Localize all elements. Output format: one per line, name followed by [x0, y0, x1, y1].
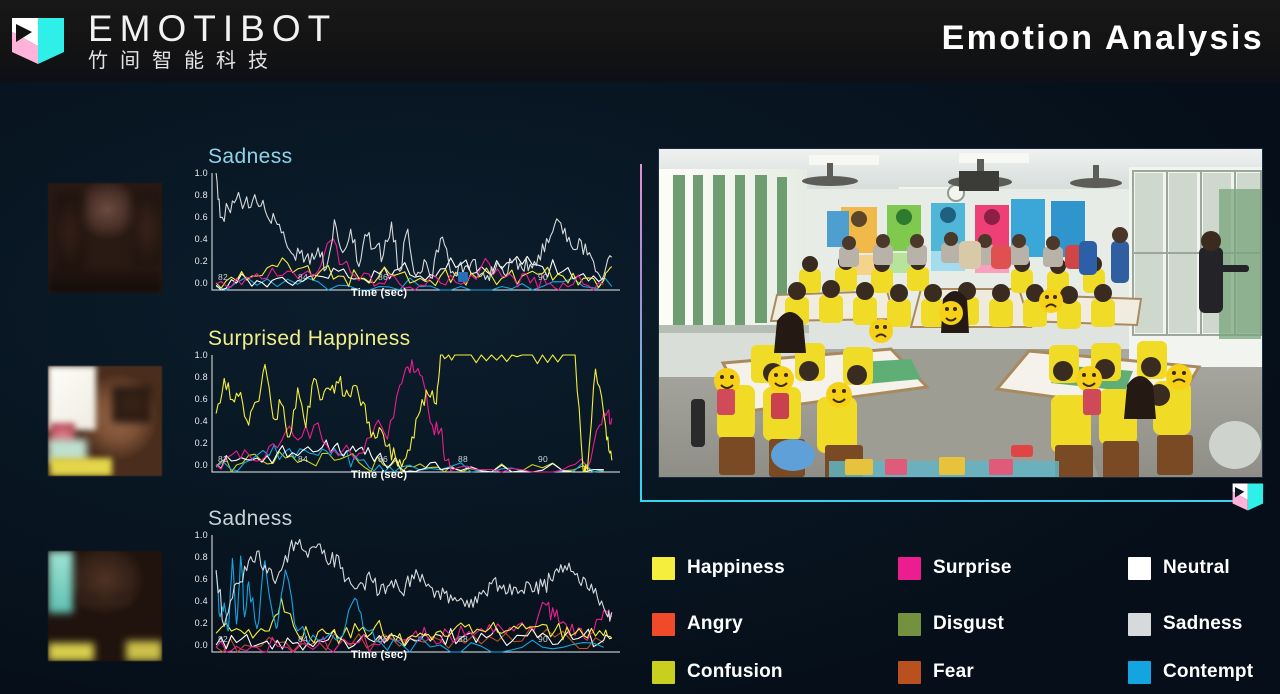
- chart-panel-sadness-1: Sadness 1.0 0.8 0.6 0.4 0.2 0.0 82 84 86…: [186, 145, 626, 325]
- legend-item-angry[interactable]: Angry: [652, 596, 898, 652]
- page-title: Emotion Analysis: [942, 19, 1264, 58]
- brand-subtitle: 竹间智能科技: [88, 51, 337, 72]
- chart-panel-surprised-happiness: Surprised Happiness 1.0 0.8 0.6 0.4 0.2 …: [186, 327, 626, 507]
- chart-title: Sadness: [208, 145, 626, 169]
- chart-panel-sadness-2: Sadness 1.0 0.8 0.6 0.4 0.2 0.0 82 84 86…: [186, 507, 626, 687]
- emotion-legend: Happiness Surprise Neutral Angry Disgust…: [652, 540, 1272, 690]
- face-thumbnail-3[interactable]: [48, 551, 162, 661]
- x-tick-label: 82: [218, 272, 228, 282]
- legend-item-fear[interactable]: Fear: [898, 652, 1128, 692]
- legend-item-sadness[interactable]: Sadness: [1128, 596, 1272, 652]
- chart-title: Surprised Happiness: [208, 327, 626, 351]
- legend-swatch-neutral: [1128, 557, 1151, 580]
- chart-title: Sadness: [208, 507, 626, 531]
- legend-label: Contempt: [1163, 661, 1253, 683]
- legend-swatch-disgust: [898, 613, 921, 636]
- legend-label: Angry: [687, 613, 743, 635]
- app-header: EMOTIBOT 竹间智能科技 Emotion Analysis: [0, 0, 1280, 82]
- legend-swatch-sadness: [1128, 613, 1151, 636]
- x-tick-label: 90: [538, 634, 548, 644]
- legend-label: Fear: [933, 661, 974, 683]
- chart-svg-1: [186, 171, 626, 296]
- classroom-video-feed[interactable]: [658, 148, 1263, 478]
- plot-area: 1.0 0.8 0.6 0.4 0.2 0.0: [186, 353, 626, 478]
- x-tick-label: 86: [378, 634, 388, 644]
- x-axis-caption: Time (sec): [351, 287, 407, 299]
- legend-label: Sadness: [1163, 613, 1243, 635]
- x-axis-caption: Time (sec): [351, 469, 407, 481]
- x-tick-label-highlighted: 88: [458, 272, 468, 282]
- x-tick-label: 90: [538, 272, 548, 282]
- legend-label: Confusion: [687, 661, 783, 683]
- legend-item-happiness[interactable]: Happiness: [652, 540, 898, 596]
- brand-name: EMOTIBOT: [88, 10, 337, 48]
- legend-swatch-confusion: [652, 661, 675, 684]
- x-tick-label: 84: [298, 634, 308, 644]
- legend-swatch-fear: [898, 661, 921, 684]
- series-line-surprise: [216, 360, 612, 472]
- emotibot-logo-icon: [8, 12, 72, 70]
- x-tick-label: 86: [378, 454, 388, 464]
- legend-label: Neutral: [1163, 557, 1230, 579]
- legend-swatch-contempt: [1128, 661, 1151, 684]
- classroom-scene: [659, 149, 1263, 478]
- x-tick-label: 82: [218, 454, 228, 464]
- legend-swatch-surprise: [898, 557, 921, 580]
- x-tick-label: 90: [538, 454, 548, 464]
- video-panel: [640, 148, 1270, 520]
- legend-item-surprise[interactable]: Surprise: [898, 540, 1128, 596]
- legend-label: Disgust: [933, 613, 1004, 635]
- frame-accent-bottom: [640, 500, 1236, 502]
- legend-label: Surprise: [933, 557, 1012, 579]
- x-tick-label: 88: [458, 454, 468, 464]
- legend-item-disgust[interactable]: Disgust: [898, 596, 1128, 652]
- chart-svg-3: [186, 533, 626, 658]
- legend-item-contempt[interactable]: Contempt: [1128, 652, 1272, 692]
- chart-svg-2: [186, 353, 626, 478]
- plot-area: 1.0 0.8 0.6 0.4 0.2 0.0: [186, 533, 626, 658]
- x-tick-label: 84: [298, 454, 308, 464]
- legend-item-confusion[interactable]: Confusion: [652, 652, 898, 692]
- x-tick-label: 82: [218, 634, 228, 644]
- legend-swatch-angry: [652, 613, 675, 636]
- legend-item-neutral[interactable]: Neutral: [1128, 540, 1272, 596]
- frame-accent-left: [640, 164, 642, 502]
- face-thumbnail-2[interactable]: [48, 366, 162, 476]
- brand-block: EMOTIBOT 竹间智能科技: [8, 10, 337, 72]
- emotibot-logo-icon: [1230, 480, 1268, 514]
- legend-swatch-happiness: [652, 557, 675, 580]
- x-tick-label: 84: [298, 272, 308, 282]
- series-line-sadness: [216, 173, 612, 281]
- series-line-sadness: [216, 539, 612, 626]
- plot-area: 1.0 0.8 0.6 0.4 0.2 0.0: [186, 171, 626, 296]
- x-tick-label: 86: [378, 272, 388, 282]
- face-thumbnail-1[interactable]: [48, 183, 162, 293]
- x-tick-label: 88: [458, 634, 468, 644]
- x-axis-caption: Time (sec): [351, 649, 407, 661]
- legend-label: Happiness: [687, 557, 785, 579]
- brand-text: EMOTIBOT 竹间智能科技: [88, 10, 337, 72]
